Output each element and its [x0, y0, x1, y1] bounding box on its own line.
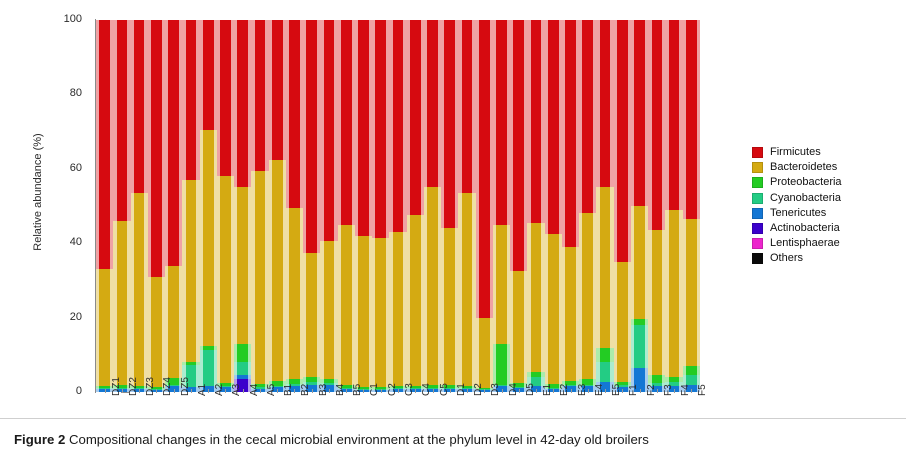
x-axis-tick [208, 389, 209, 393]
y-axis-tick-label: 20 [42, 312, 82, 323]
bar-stack [168, 20, 179, 392]
legend-swatch-icon [752, 208, 763, 219]
bar-segment [99, 269, 110, 386]
y-axis-tick-label: 40 [42, 237, 82, 248]
bar-stack [565, 20, 576, 392]
bar-stack [203, 20, 214, 392]
x-axis-tick [691, 389, 692, 393]
bar-stack [237, 20, 248, 392]
bar-segment [393, 20, 404, 232]
x-axis-tick [174, 389, 175, 393]
bar-stack [652, 20, 663, 392]
bar-segment [479, 20, 490, 318]
legend-item-actinobacteria[interactable]: Actinobacteria [752, 221, 902, 236]
caption-bar: Figure 2 Compositional changes in the ce… [0, 418, 906, 471]
x-axis-tick [433, 389, 434, 393]
bar-stack [600, 20, 611, 392]
bar-segment [513, 20, 524, 271]
x-axis-tick [139, 389, 140, 393]
bar-E4[interactable] [582, 20, 593, 392]
plot-area [96, 20, 700, 392]
legend-swatch-icon [752, 238, 763, 249]
bar-B4[interactable] [324, 20, 335, 392]
bar-stack [582, 20, 593, 392]
legend-item-bacteroidetes[interactable]: Bacteroidetes [752, 160, 902, 175]
x-axis-tick [484, 389, 485, 393]
legend-label: Cyanobacteria [770, 193, 841, 204]
x-axis-tick [191, 389, 192, 393]
bar-D5[interactable] [513, 20, 524, 392]
x-axis-tick [674, 389, 675, 393]
bar-stack [220, 20, 231, 392]
legend: FirmicutesBacteroidetesProteobacteriaCya… [752, 145, 902, 267]
bar-segment [634, 319, 645, 325]
bar-segment [565, 20, 576, 247]
y-axis-tick-label: 60 [42, 163, 82, 174]
bar-stack [462, 20, 473, 392]
bar-F2[interactable] [634, 20, 645, 392]
bar-D4[interactable] [496, 20, 507, 392]
bar-B5[interactable] [341, 20, 352, 392]
bar-segment [220, 20, 231, 176]
bar-stack [272, 20, 283, 392]
bar-segment [237, 187, 248, 343]
bar-stack [375, 20, 386, 392]
bar-E2[interactable] [548, 20, 559, 392]
bar-F3[interactable] [652, 20, 663, 392]
bar-segment [358, 20, 369, 236]
bar-C2[interactable] [375, 20, 386, 392]
y-axis-tick-label: 0 [42, 386, 82, 397]
legend-item-tenericutes[interactable]: Tenericutes [752, 206, 902, 221]
bar-segment [99, 20, 110, 269]
x-axis-tick [225, 389, 226, 393]
x-axis-tick [467, 389, 468, 393]
legend-swatch-icon [752, 253, 763, 264]
legend-swatch-icon [752, 162, 763, 173]
bar-stack [617, 20, 628, 392]
bar-segment [462, 20, 473, 193]
y-axis-tick-label: 80 [42, 88, 82, 99]
bar-DZ1[interactable] [99, 20, 110, 392]
figure-label: Figure 2 [14, 432, 65, 447]
legend-swatch-icon [752, 223, 763, 234]
x-axis-tick [571, 389, 572, 393]
bar-F4[interactable] [669, 20, 680, 392]
bar-segment [496, 225, 507, 345]
legend-swatch-icon [752, 147, 763, 158]
bar-stack [686, 20, 697, 392]
bar-C1[interactable] [358, 20, 369, 392]
figure-2: Relative abundance (%) 020406080100 DZ1D… [0, 0, 906, 470]
bar-stack [341, 20, 352, 392]
bar-segment [99, 386, 110, 388]
bar-segment [600, 187, 611, 348]
bar-stack [117, 20, 128, 392]
bar-DZ3[interactable] [134, 20, 145, 392]
bar-B3[interactable] [306, 20, 317, 392]
x-axis-tick [122, 389, 123, 393]
legend-label: Tenericutes [770, 208, 826, 219]
bar-C4[interactable] [410, 20, 421, 392]
bar-stack [99, 20, 110, 392]
bar-segment [582, 20, 593, 213]
bar-segment [375, 20, 386, 238]
bar-segment [410, 20, 421, 215]
bar-segment [237, 20, 248, 187]
bar-segment [151, 20, 162, 277]
bar-F1[interactable] [617, 20, 628, 392]
bar-stack [151, 20, 162, 392]
x-axis-tick [605, 389, 606, 393]
x-axis-tick [243, 389, 244, 393]
figure-caption: Figure 2 Compositional changes in the ce… [14, 432, 894, 447]
x-axis-tick [312, 389, 313, 393]
legend-item-others[interactable]: Others [752, 251, 902, 266]
stacked-bar-chart: Relative abundance (%) 020406080100 DZ1D… [0, 0, 906, 418]
bar-E3[interactable] [565, 20, 576, 392]
bar-segment [324, 20, 335, 241]
bar-DZ4[interactable] [151, 20, 162, 392]
bar-segment [548, 20, 559, 234]
x-axis-tick [294, 389, 295, 393]
bar-segment [652, 20, 663, 230]
x-axis-tick [156, 389, 157, 393]
x-axis-tick [363, 389, 364, 393]
legend-label: Proteobacteria [770, 177, 842, 188]
bar-B2[interactable] [289, 20, 300, 392]
legend-label: Others [770, 253, 803, 264]
bar-stack [479, 20, 490, 392]
bar-segment [272, 20, 283, 160]
bar-segment [617, 20, 628, 262]
bar-segment [686, 219, 697, 366]
bar-segment [117, 20, 128, 221]
caption-text: Compositional changes in the cecal micro… [69, 432, 649, 447]
x-axis-tick [536, 389, 537, 393]
x-axis-tick [398, 389, 399, 393]
bar-B1[interactable] [272, 20, 283, 392]
bar-E1[interactable] [531, 20, 542, 392]
y-axis-tick-labels: 020406080100 [34, 0, 82, 418]
bar-A3[interactable] [220, 20, 231, 392]
x-axis-tick [415, 389, 416, 393]
bar-F5[interactable] [686, 20, 697, 392]
bar-stack [496, 20, 507, 392]
x-axis-tick-label-F5: F5 [696, 350, 710, 396]
x-axis-tick [519, 389, 520, 393]
bar-stack [306, 20, 317, 392]
bar-stack [134, 20, 145, 392]
bar-A1[interactable] [186, 20, 197, 392]
bar-stack [634, 20, 645, 392]
x-axis-tick [553, 389, 554, 393]
bar-segment [531, 20, 542, 223]
bar-stack [548, 20, 559, 392]
bar-segment [427, 20, 438, 187]
bar-segment [634, 206, 645, 319]
x-axis-tick [502, 389, 503, 393]
bar-segment [255, 20, 266, 171]
bar-DZ5[interactable] [168, 20, 179, 392]
legend-item-cyanobacteria[interactable]: Cyanobacteria [752, 191, 902, 206]
x-axis-tick [588, 389, 589, 393]
bar-A4[interactable] [237, 20, 248, 392]
x-axis-tick [260, 389, 261, 393]
x-axis-tick [450, 389, 451, 393]
bar-A2[interactable] [203, 20, 214, 392]
bar-segment [289, 20, 300, 208]
bar-stack [358, 20, 369, 392]
bar-D2[interactable] [462, 20, 473, 392]
x-axis-tick [277, 389, 278, 393]
bar-E5[interactable] [600, 20, 611, 392]
legend-label: Firmicutes [770, 147, 821, 158]
x-axis-tick [622, 389, 623, 393]
legend-label: Actinobacteria [770, 223, 840, 234]
x-axis-tick [105, 389, 106, 393]
bar-D1[interactable] [444, 20, 455, 392]
bar-segment [186, 20, 197, 180]
bar-stack [324, 20, 335, 392]
bar-stack [186, 20, 197, 392]
bar-segment [686, 20, 697, 219]
bar-D3[interactable] [479, 20, 490, 392]
bar-group [96, 20, 700, 392]
bar-segment [203, 130, 214, 347]
x-axis-tick [329, 389, 330, 393]
bar-A5[interactable] [255, 20, 266, 392]
bar-segment [444, 20, 455, 228]
bar-segment [341, 20, 352, 225]
bar-DZ2[interactable] [117, 20, 128, 392]
bar-C5[interactable] [427, 20, 438, 392]
legend-label: Lentisphaerae [770, 238, 840, 249]
legend-item-firmicutes[interactable]: Firmicutes [752, 145, 902, 160]
y-axis-tick-label: 100 [42, 14, 82, 25]
bar-segment [203, 20, 214, 130]
legend-item-lentisphaerae[interactable]: Lentisphaerae [752, 236, 902, 251]
legend-swatch-icon [752, 177, 763, 188]
legend-swatch-icon [752, 193, 763, 204]
bar-stack [513, 20, 524, 392]
bar-segment [306, 20, 317, 253]
bar-segment [634, 20, 645, 206]
x-axis-tick [640, 389, 641, 393]
bar-stack [410, 20, 421, 392]
bar-stack [255, 20, 266, 392]
legend-item-proteobacteria[interactable]: Proteobacteria [752, 175, 902, 190]
bar-stack [393, 20, 404, 392]
x-axis-tick [346, 389, 347, 393]
x-axis-tick [657, 389, 658, 393]
bar-C3[interactable] [393, 20, 404, 392]
bar-segment [496, 20, 507, 225]
bar-segment [168, 20, 179, 266]
bar-stack [444, 20, 455, 392]
x-axis-tick [381, 389, 382, 393]
legend-label: Bacteroidetes [770, 162, 837, 173]
bar-segment [600, 20, 611, 187]
bar-segment [186, 180, 197, 362]
bar-segment [669, 20, 680, 210]
bar-stack [289, 20, 300, 392]
bar-segment [134, 20, 145, 193]
bar-stack [669, 20, 680, 392]
bar-segment [272, 160, 283, 382]
bar-stack [427, 20, 438, 392]
bar-stack [531, 20, 542, 392]
